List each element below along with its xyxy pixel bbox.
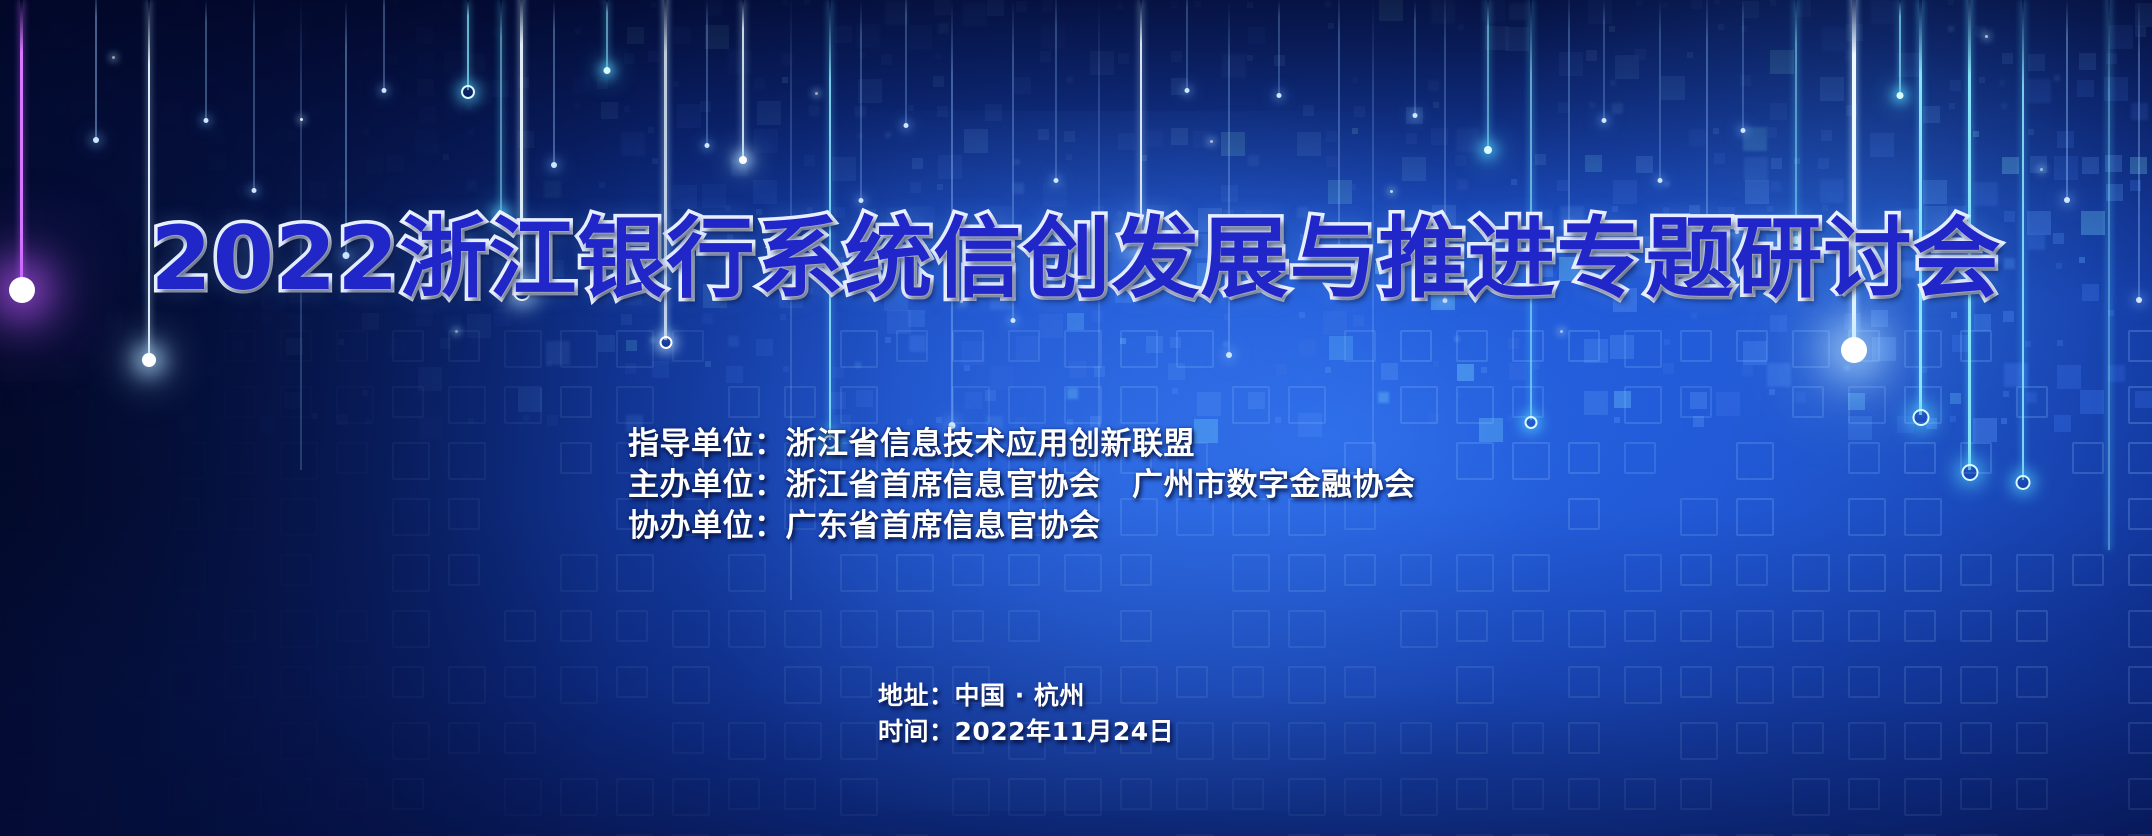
light-line xyxy=(1055,0,1057,180)
sparkle-dot xyxy=(300,118,303,121)
light-line xyxy=(148,0,150,360)
light-line xyxy=(2108,0,2110,550)
light-line xyxy=(2066,0,2068,200)
light-line xyxy=(706,0,708,145)
organizer-line-host: 主办单位：浙江省首席信息官协会 广州市数字金融协会 xyxy=(628,465,1416,506)
light-line xyxy=(1012,0,1014,320)
organizer-line-guidance: 指导单位：浙江省信息技术应用创新联盟 xyxy=(628,424,1416,465)
light-line xyxy=(606,0,608,70)
sparkle-dot xyxy=(1390,190,1393,193)
sparkle-dot xyxy=(1210,140,1213,143)
event-meta-block: 地址：中国 · 杭州 时间：2022年11月24日 xyxy=(878,678,1174,751)
sparkle-dot xyxy=(455,330,458,333)
light-line xyxy=(1278,0,1280,95)
sparkle-dot xyxy=(1560,330,1563,333)
light-line xyxy=(2138,0,2140,300)
light-line xyxy=(951,0,953,425)
light-line xyxy=(905,0,907,125)
organizer-block: 指导单位：浙江省信息技术应用创新联盟 主办单位：浙江省首席信息官协会 广州市数字… xyxy=(628,424,1416,548)
background-right-glow xyxy=(1432,0,2152,640)
light-line xyxy=(1742,0,1744,130)
light-line xyxy=(1414,0,1416,115)
light-line xyxy=(1372,0,1374,490)
light-line xyxy=(1186,0,1188,90)
light-line xyxy=(1706,0,1708,280)
sparkle-dot xyxy=(1985,35,1988,38)
light-line xyxy=(1140,0,1142,240)
sparkle-dot xyxy=(622,250,626,254)
light-line xyxy=(20,0,23,290)
conference-banner: 2022浙江银行系统信创发展与推进专题研讨会 指导单位：浙江省信息技术应用创新联… xyxy=(0,0,2152,836)
event-date: 时间：2022年11月24日 xyxy=(878,714,1174,750)
light-line xyxy=(345,0,347,255)
sparkle-dot xyxy=(815,92,818,95)
sparkle-dot xyxy=(112,56,115,59)
light-line xyxy=(300,0,302,470)
light-line xyxy=(520,0,523,290)
light-line xyxy=(1968,0,1971,470)
light-line xyxy=(1444,0,1446,300)
light-line xyxy=(2022,0,2024,480)
sparkle-dot xyxy=(960,300,963,303)
light-line xyxy=(860,0,862,200)
light-line xyxy=(829,0,831,440)
light-line xyxy=(383,0,385,90)
light-line xyxy=(1603,0,1605,120)
sparkle-dot xyxy=(2040,168,2043,171)
light-line xyxy=(1899,0,1901,95)
light-line xyxy=(205,0,207,120)
light-line xyxy=(253,0,255,190)
light-line xyxy=(1338,0,1340,250)
sparkle-dot xyxy=(1735,230,1739,234)
light-line xyxy=(1795,0,1797,240)
light-line xyxy=(1919,0,1922,415)
light-line xyxy=(1530,0,1532,420)
organizer-line-cohost: 协办单位：广东省首席信息官协会 xyxy=(628,506,1416,547)
event-address: 地址：中国 · 杭州 xyxy=(878,678,1174,714)
light-line xyxy=(1852,0,1856,350)
light-line xyxy=(553,0,555,165)
light-line xyxy=(1659,0,1661,180)
light-line xyxy=(1228,0,1230,355)
light-line xyxy=(742,0,744,160)
light-line xyxy=(95,0,97,140)
light-line xyxy=(1568,0,1570,225)
light-line xyxy=(664,0,667,340)
light-line xyxy=(467,0,469,90)
light-line xyxy=(1487,0,1489,150)
light-line xyxy=(500,0,502,215)
